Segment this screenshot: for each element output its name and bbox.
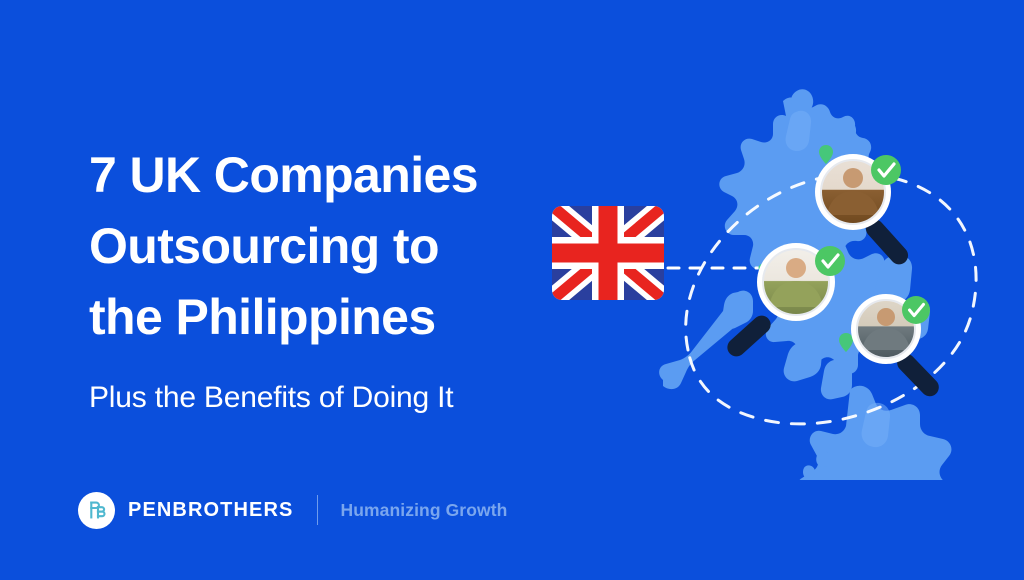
- verified-check-badge-north: [871, 155, 901, 185]
- brand-tagline: Humanizing Growth: [340, 500, 507, 521]
- page-title: 7 UK Companies Outsourcing to the Philip…: [89, 140, 559, 353]
- hero-text-block: 7 UK Companies Outsourcing to the Philip…: [89, 140, 559, 417]
- outsourcing-illustration: [520, 60, 1024, 480]
- verified-check-badge-central: [815, 246, 845, 276]
- verified-check-badge-south: [902, 296, 930, 324]
- penbrothers-logo-icon: [78, 492, 115, 529]
- page-subtitle: Plus the Benefits of Doing It: [89, 353, 559, 417]
- brand-name: PENBROTHERS: [128, 499, 293, 522]
- united-kingdom-flag: [552, 206, 664, 300]
- brand-lockup[interactable]: PENBROTHERS Humanizing Growth: [78, 488, 507, 532]
- brand-divider: [317, 495, 318, 525]
- banner-canvas: 7 UK Companies Outsourcing to the Philip…: [0, 0, 1024, 580]
- magnifier-talent-south: [851, 294, 943, 400]
